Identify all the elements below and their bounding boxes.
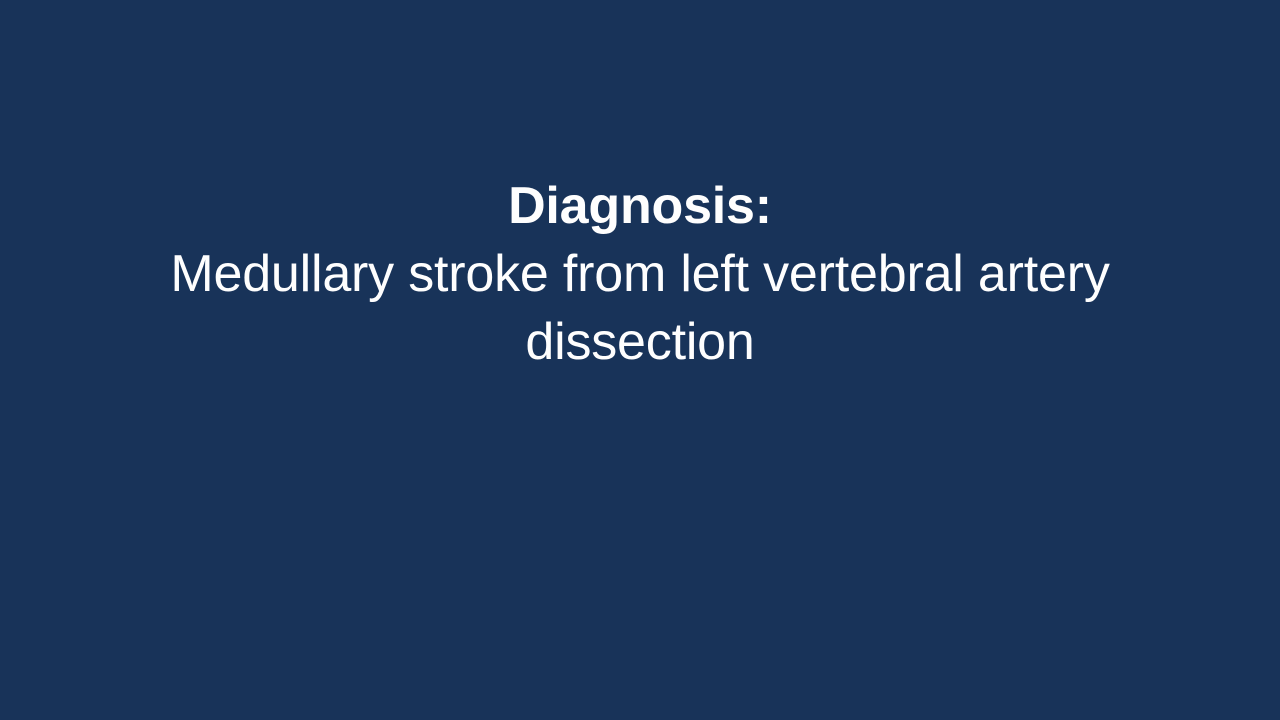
slide: Diagnosis: Medullary stroke from left ve…	[0, 0, 1280, 720]
diagnosis-heading: Diagnosis:	[64, 172, 1216, 240]
diagnosis-body-text: Medullary stroke from left vertebral art…	[140, 240, 1140, 376]
diagnosis-text-block: Diagnosis: Medullary stroke from left ve…	[64, 172, 1216, 376]
